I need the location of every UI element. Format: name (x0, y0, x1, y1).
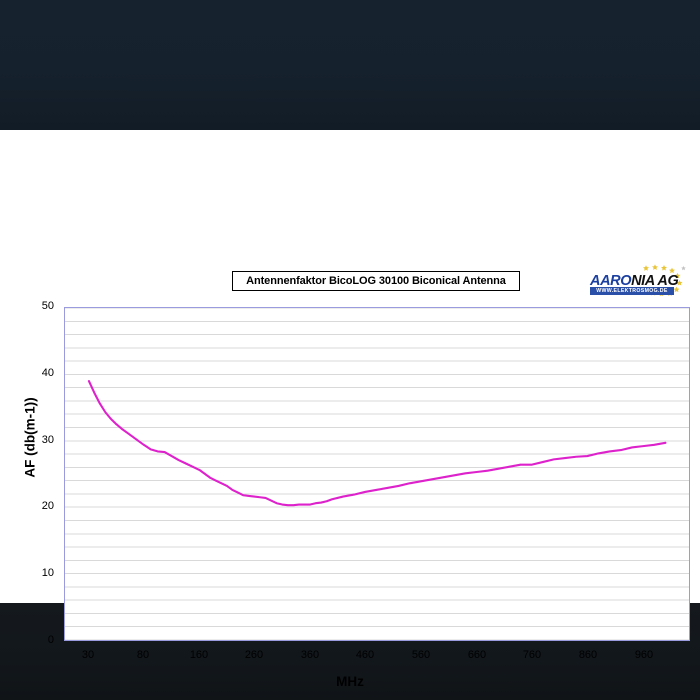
x-tick-label: 260 (224, 649, 284, 661)
x-tick-label: 560 (391, 649, 451, 661)
x-tick-label: 460 (335, 649, 395, 661)
plot-area (64, 307, 690, 641)
x-tick-label: 160 (169, 649, 229, 661)
logo-url: WWW.ELEKTROSMOG.DE (590, 287, 674, 295)
x-tick-label: 860 (558, 649, 618, 661)
x-tick-label: 660 (447, 649, 507, 661)
aaronia-logo: AARONIA AG WWW.ELEKTROSMOG.DE (588, 264, 692, 296)
x-tick-label: 960 (614, 649, 674, 661)
x-tick-label: 360 (280, 649, 340, 661)
letterbox-top (0, 0, 700, 130)
y-tick-label: 50 (8, 301, 54, 312)
chart-title: Antennenfaktor BicoLOG 30100 Biconical A… (246, 275, 506, 287)
chart-title-box: Antennenfaktor BicoLOG 30100 Biconical A… (232, 271, 520, 291)
y-tick-label: 20 (8, 501, 54, 512)
x-axis-label: MHz (0, 674, 700, 689)
x-tick-label: 760 (502, 649, 562, 661)
y-tick-label: 0 (8, 635, 54, 646)
x-tick-label: 80 (113, 649, 173, 661)
x-tick-label: 30 (58, 649, 118, 661)
y-tick-label: 10 (8, 568, 54, 579)
y-tick-label: 40 (8, 368, 54, 379)
data-series-line (65, 308, 689, 640)
y-tick-label: 30 (8, 435, 54, 446)
chart-figure: Antennenfaktor BicoLOG 30100 Biconical A… (0, 130, 700, 603)
screenshot-root: Antennenfaktor BicoLOG 30100 Biconical A… (0, 0, 700, 700)
